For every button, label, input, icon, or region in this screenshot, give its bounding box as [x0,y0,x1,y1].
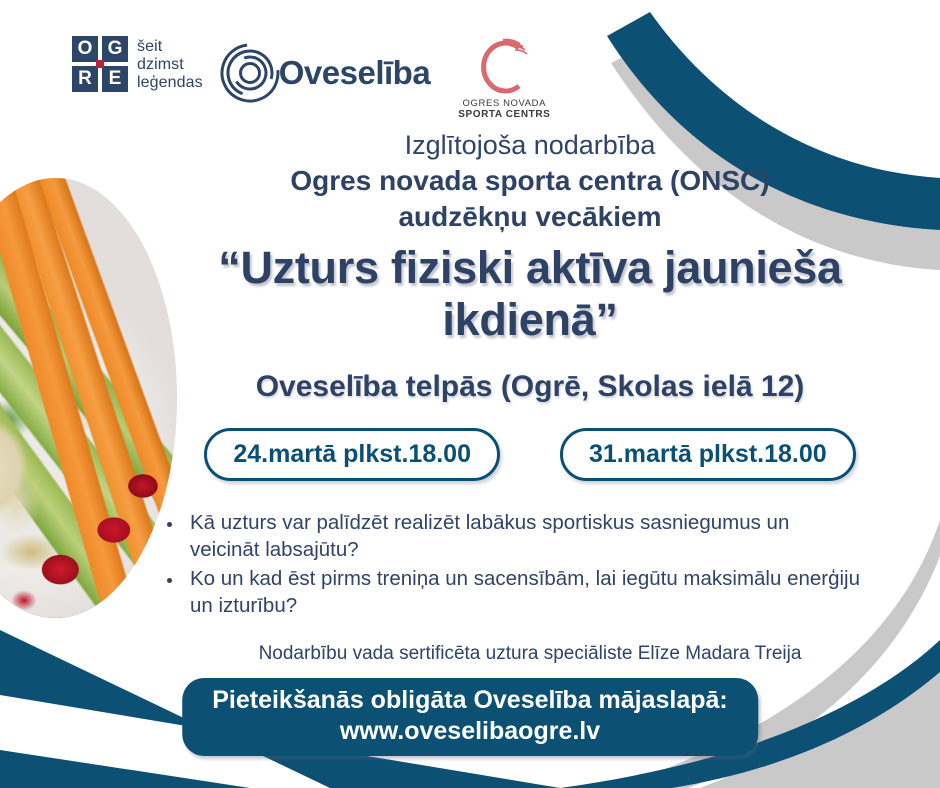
ogre-slogan-line2: dzimst [137,56,203,74]
oveseliba-logo: Oveselība [219,42,430,104]
ogre-slogan-line3: leģendas [137,74,203,92]
poster-title-line1: “Uzturs fiziski aktīva jaunieša [160,242,900,294]
kicker-text: Izglītojoša nodarbība [160,128,900,162]
ogre-letter-o: O [72,36,98,62]
onsc-caption-line2: SPORTA CENTRS [458,109,550,120]
date-badge-1[interactable]: 24.martā plkst.18.00 [204,428,500,481]
registration-url[interactable]: www.oveselibaogre.lv [212,716,728,747]
registration-banner[interactable]: Pieteikšanās obligāta Oveselība mājaslap… [182,678,758,756]
onsc-c-icon [473,38,535,96]
list-item: Kā uzturs var palīdzēt realizēt labākus … [184,509,860,563]
date-badges: 24.martā plkst.18.00 31.martā plkst.18.0… [160,428,900,481]
poster-title-line2: ikdienā” [160,294,900,346]
food-bowl-photo-image [0,178,177,618]
registration-line1: Pieteikšanās obligāta Oveselība mājaslap… [212,685,728,716]
ogre-letter-e: E [102,66,128,92]
onsc-caption: OGRES NOVADA SPORTA CENTRS [458,98,550,120]
list-item: Ko un kad ēst pirms treniņa un sacensībā… [184,565,860,619]
speaker-text: Nodarbību vada sertificēta uztura speciā… [160,641,900,667]
logo-row: O G R E šeit dzimst leģendas [72,36,550,120]
ogre-letter-r: R [72,66,98,92]
ogre-slogan-line1: šeit [137,38,203,56]
kicker-strong-line2: audzēkņu vecākiem [160,199,900,234]
poster-title: “Uzturs fiziski aktīva jaunieša ikdienā” [160,242,900,346]
ogre-letter-g: G [102,36,128,62]
onsc-logo: OGRES NOVADA SPORTA CENTRS [458,38,550,120]
ogre-mark-icon: O G R E [72,36,128,92]
oveseliba-spiral-icon [219,42,281,104]
poster-canvas: O G R E šeit dzimst leģendas [0,0,940,788]
food-bowl-photo [0,178,177,618]
main-content: Izglītojoša nodarbība Ogres novada sport… [160,128,900,667]
ogre-logo: O G R E šeit dzimst leģendas [72,36,203,92]
topic-list: Kā uzturs var palīdzēt realizēt labākus … [160,509,860,619]
oveseliba-wordmark: Oveselība [279,54,430,92]
date-badge-2[interactable]: 31.martā plkst.18.00 [560,428,856,481]
ogre-slogan: šeit dzimst leģendas [137,37,203,92]
ogre-red-dot-icon [96,60,104,68]
venue-text: Oveselība telpās (Ogrē, Skolas ielā 12) [160,368,900,406]
onsc-caption-line1: OGRES NOVADA [458,98,550,109]
kicker-strong-line1: Ogres novada sporta centra (ONSC) [160,163,900,198]
